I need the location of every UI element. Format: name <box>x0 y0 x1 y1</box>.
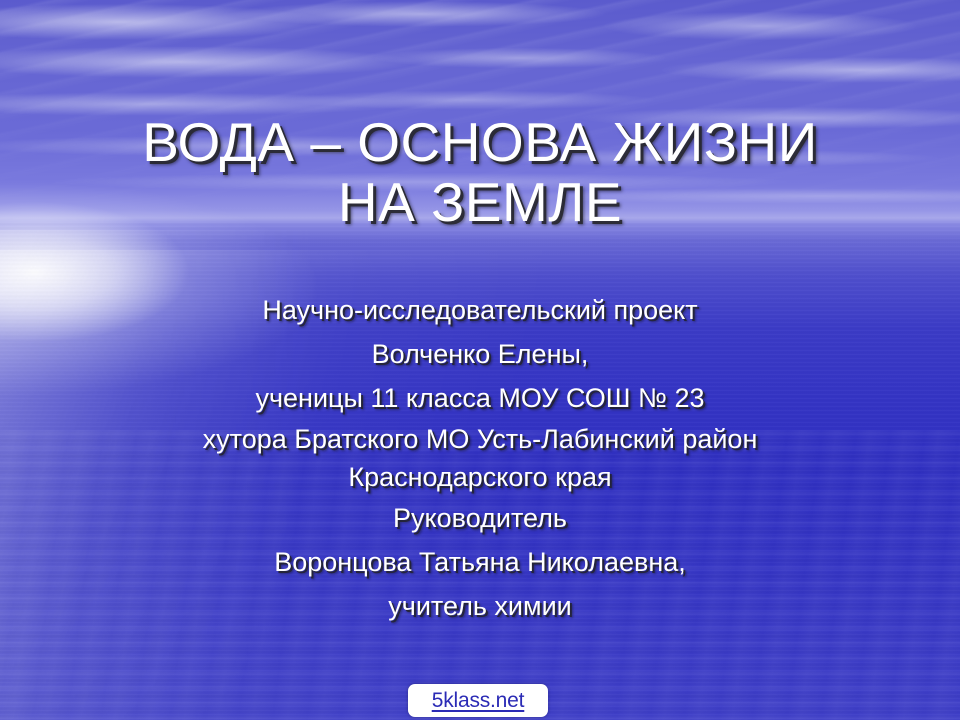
slide-subtitle: Научно-исследовательский проект Волченко… <box>0 288 960 628</box>
slide-title-line-2: НА ЗЕМЛЕ <box>0 172 960 232</box>
subtitle-author-class: ученицы 11 класса МОУ СОШ № 23 <box>0 376 960 420</box>
slide-title-line-1: ВОДА – ОСНОВА ЖИЗНИ <box>0 112 960 172</box>
slide-title: ВОДА – ОСНОВА ЖИЗНИ НА ЗЕМЛЕ <box>0 112 960 232</box>
subtitle-project-type: Научно-исследовательский проект <box>0 288 960 332</box>
subtitle-author-name: Волченко Елены, <box>0 332 960 376</box>
subtitle-supervisor-label: Руководитель <box>0 496 960 540</box>
slide-content: ВОДА – ОСНОВА ЖИЗНИ НА ЗЕМЛЕ Научно-иссл… <box>0 0 960 720</box>
subtitle-location-district: хутора Братского МО Усть-Лабинский район <box>0 420 960 458</box>
source-watermark-label: 5klass.net <box>432 690 525 711</box>
source-watermark-badge[interactable]: 5klass.net <box>408 684 548 717</box>
presentation-slide: ВОДА – ОСНОВА ЖИЗНИ НА ЗЕМЛЕ Научно-иссл… <box>0 0 960 720</box>
subtitle-location-region: Краснодарского края <box>0 458 960 496</box>
subtitle-supervisor-role: учитель химии <box>0 584 960 628</box>
subtitle-supervisor-name: Воронцова Татьяна Николаевна, <box>0 540 960 584</box>
